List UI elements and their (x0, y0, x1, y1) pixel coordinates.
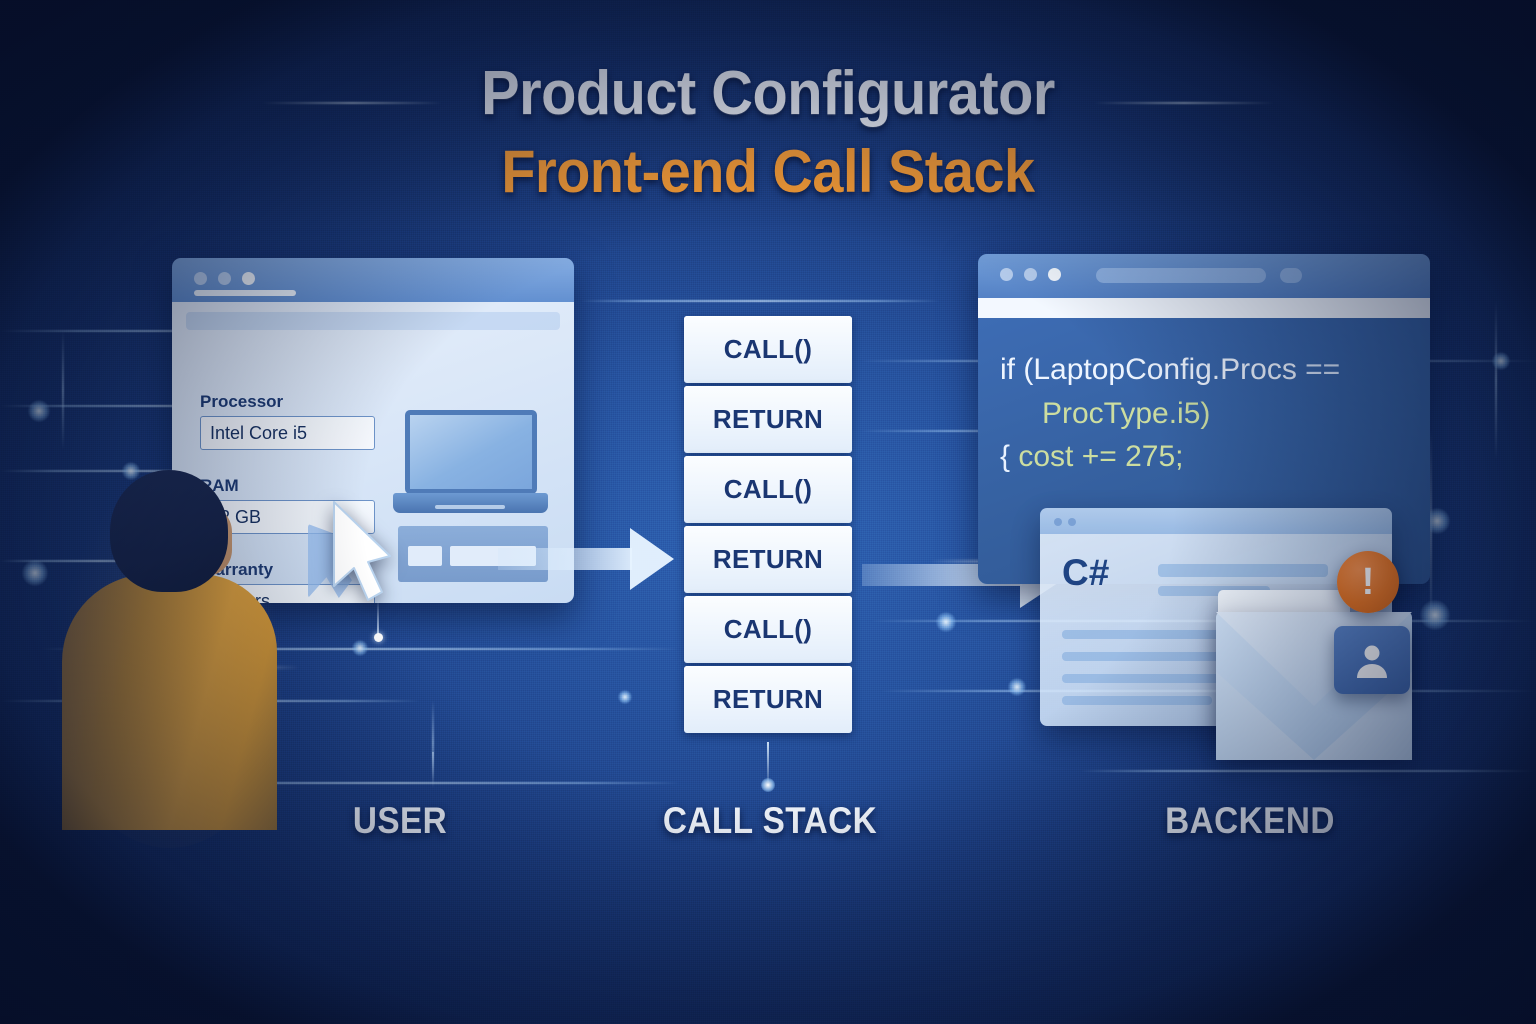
code-token: cost += 275; (1010, 440, 1183, 473)
address-bar[interactable] (194, 290, 296, 296)
code-line-3: { cost += 275; (1000, 435, 1408, 479)
address-bar[interactable] (1096, 268, 1266, 283)
zone-label-user: USER (310, 800, 490, 842)
circuit-node (22, 560, 48, 586)
window-title-bar (978, 254, 1430, 298)
circuit-node (1420, 600, 1450, 630)
window-dot-maximize-icon[interactable] (242, 272, 255, 285)
stack-frame[interactable]: RETURN (684, 526, 852, 593)
code-token-brace: { (1000, 440, 1010, 473)
circuit-trace (580, 300, 940, 302)
window-controls[interactable] (194, 272, 255, 285)
circuit-node (1492, 352, 1510, 370)
mouse-cursor-icon (330, 500, 394, 604)
zone-label-backend: BACKEND (1106, 800, 1394, 842)
circuit-trace-vertical (62, 330, 64, 450)
page-subtitle: Front-end Call Stack (54, 137, 1482, 206)
cursor-stem (377, 600, 379, 636)
cursor-anchor-dot (374, 633, 383, 642)
circuit-node (352, 640, 368, 656)
window-title-bar (1040, 508, 1392, 534)
window-dot-close-icon[interactable] (1054, 518, 1062, 526)
code-token: if (LaptopConfig.Procs (1000, 353, 1305, 386)
language-label: C# (1062, 552, 1109, 594)
field-label-processor: Processor (200, 392, 375, 412)
toolbar-chip[interactable] (1280, 268, 1302, 283)
circuit-node (936, 612, 956, 632)
window-dot-close-icon[interactable] (194, 272, 207, 285)
editor-tab-strip (978, 298, 1430, 318)
title-block: Product Configurator Front-end Call Stac… (0, 58, 1536, 206)
alert-badge[interactable]: ! (1337, 551, 1399, 613)
code-token: == (1305, 353, 1340, 386)
circuit-node (618, 690, 632, 704)
laptop-icon (393, 410, 548, 513)
window-dot-close-icon[interactable] (1000, 268, 1013, 281)
circuit-trace-vertical (1495, 300, 1497, 460)
user-contact-icon (1334, 626, 1410, 694)
code-line-1: if (LaptopConfig.Procs == (1000, 348, 1408, 392)
window-dot-minimize-icon[interactable] (1068, 518, 1076, 526)
stack-frame[interactable]: RETURN (684, 666, 852, 733)
stack-frame[interactable]: RETURN (684, 386, 852, 453)
user-avatar (62, 470, 277, 830)
infographic-canvas: Product Configurator Front-end Call Stac… (0, 0, 1536, 1024)
configurator-toolbar (186, 312, 560, 330)
page-title: Product Configurator (54, 58, 1482, 129)
field-input-processor[interactable]: Intel Core i5 (200, 416, 375, 450)
stack-connector (767, 742, 769, 782)
call-stack-column: CALL() RETURN CALL() RETURN CALL() RETUR… (684, 316, 852, 736)
code-token: ProcType.i5) (1042, 397, 1210, 430)
arrow-user-to-stack (498, 528, 674, 590)
field-group-processor: Processor Intel Core i5 (200, 392, 375, 450)
window-title-bar (172, 258, 574, 302)
circuit-node (1008, 678, 1026, 696)
zone-label-stack: CALL STACK (635, 800, 905, 842)
stack-frame[interactable]: CALL() (684, 456, 852, 523)
window-dot-maximize-icon[interactable] (1048, 268, 1061, 281)
circuit-trace (1080, 770, 1536, 772)
window-controls[interactable] (1000, 268, 1061, 281)
circuit-node (28, 400, 50, 422)
stack-frame[interactable]: CALL() (684, 316, 852, 383)
window-dot-minimize-icon[interactable] (218, 272, 231, 285)
stack-connector-node (761, 778, 775, 792)
stack-frame[interactable]: CALL() (684, 596, 852, 663)
zone-stem-user (432, 752, 434, 788)
window-dot-minimize-icon[interactable] (1024, 268, 1037, 281)
code-line-2: ProcType.i5) (1000, 392, 1408, 436)
